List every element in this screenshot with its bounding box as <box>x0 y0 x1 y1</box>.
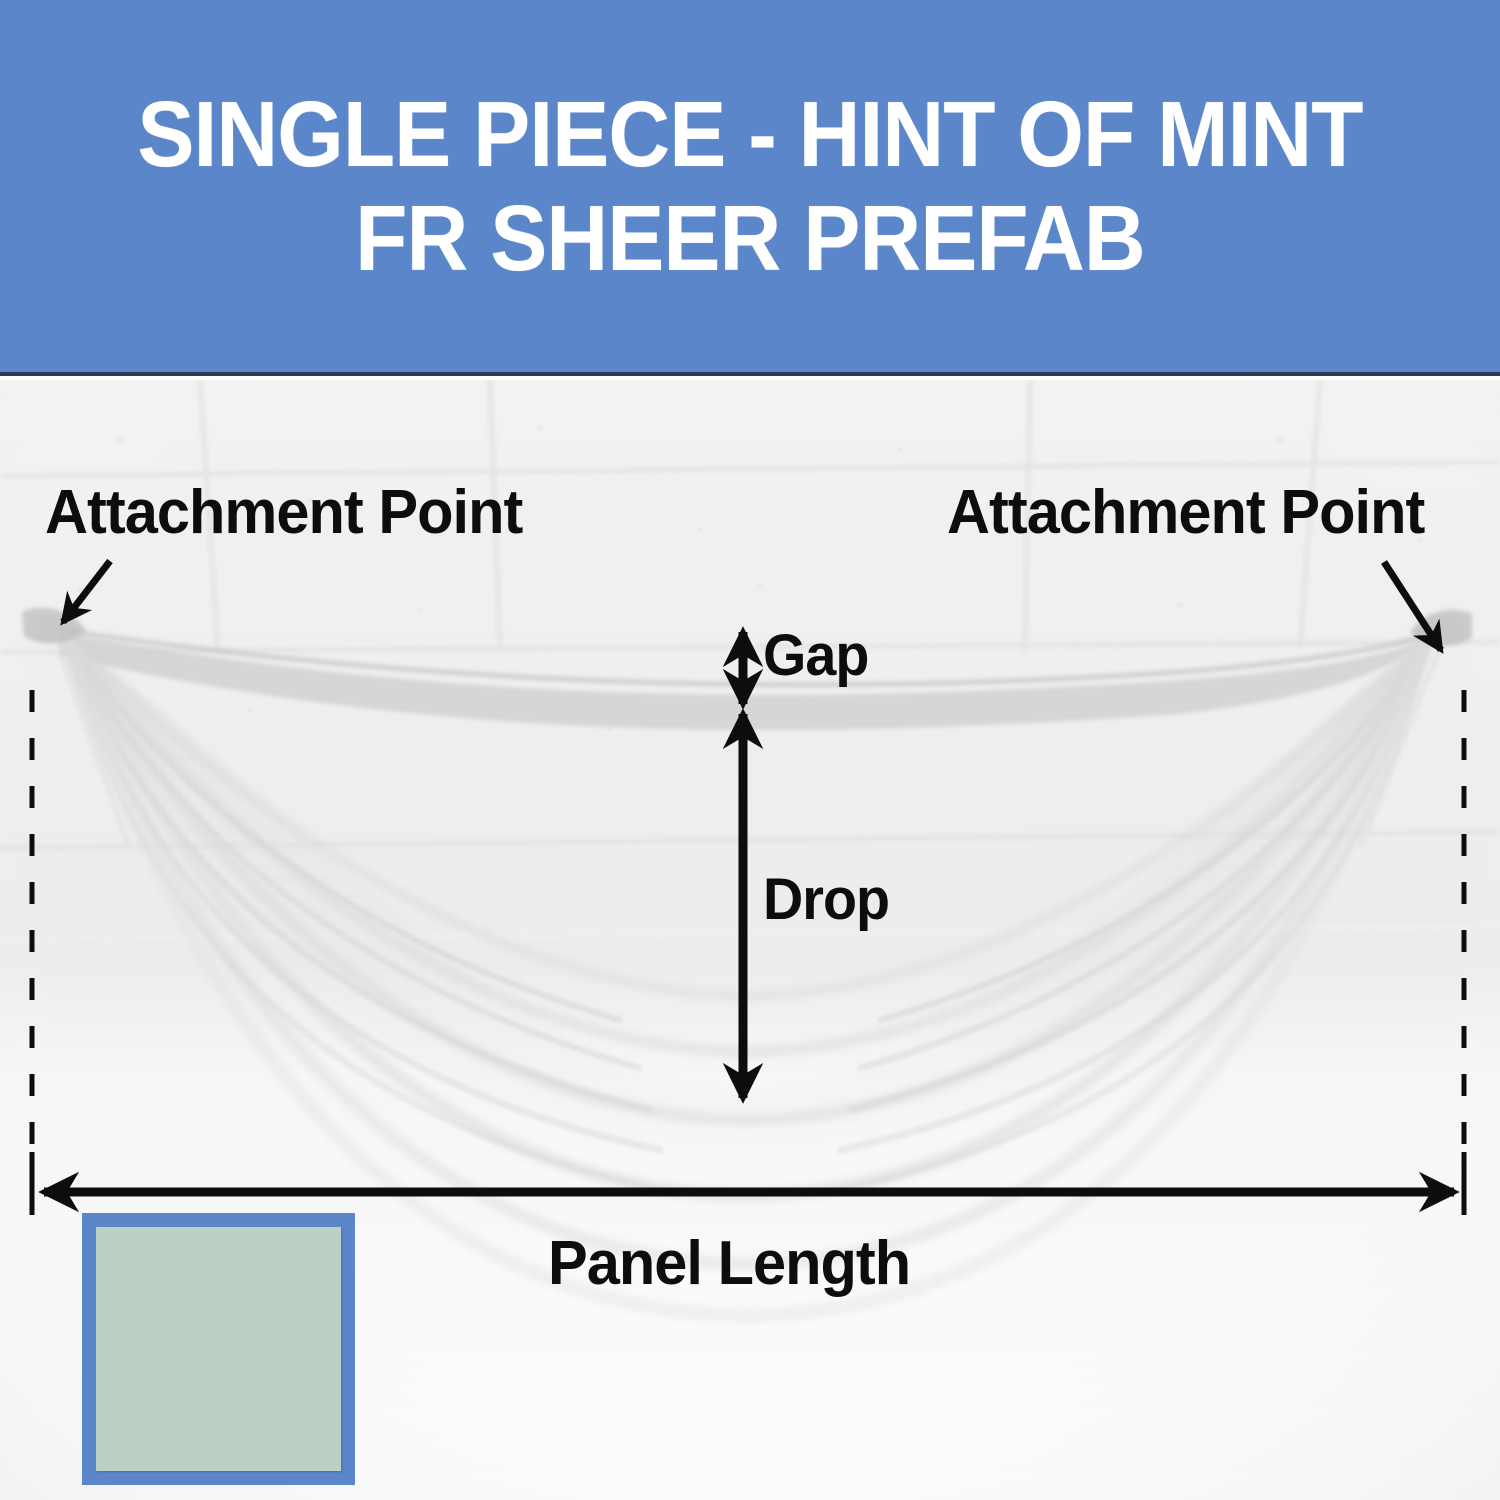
title-line-2: FR SHEER PREFAB <box>97 186 1403 290</box>
product-diagram-page: SINGLE PIECE - HINT OF MINT FR SHEER PRE… <box>0 0 1500 1500</box>
color-swatch-fill <box>96 1227 341 1471</box>
header-banner: SINGLE PIECE - HINT OF MINT FR SHEER PRE… <box>0 0 1500 376</box>
page-title: SINGLE PIECE - HINT OF MINT FR SHEER PRE… <box>97 82 1403 290</box>
label-attachment-point-right: Attachment Point <box>947 477 1424 548</box>
label-panel-length: Panel Length <box>548 1228 910 1299</box>
label-gap: Gap <box>763 622 868 689</box>
label-attachment-point-left: Attachment Point <box>45 477 522 548</box>
label-drop: Drop <box>763 866 889 933</box>
color-swatch <box>82 1213 355 1485</box>
title-line-1: SINGLE PIECE - HINT OF MINT <box>137 82 1362 186</box>
